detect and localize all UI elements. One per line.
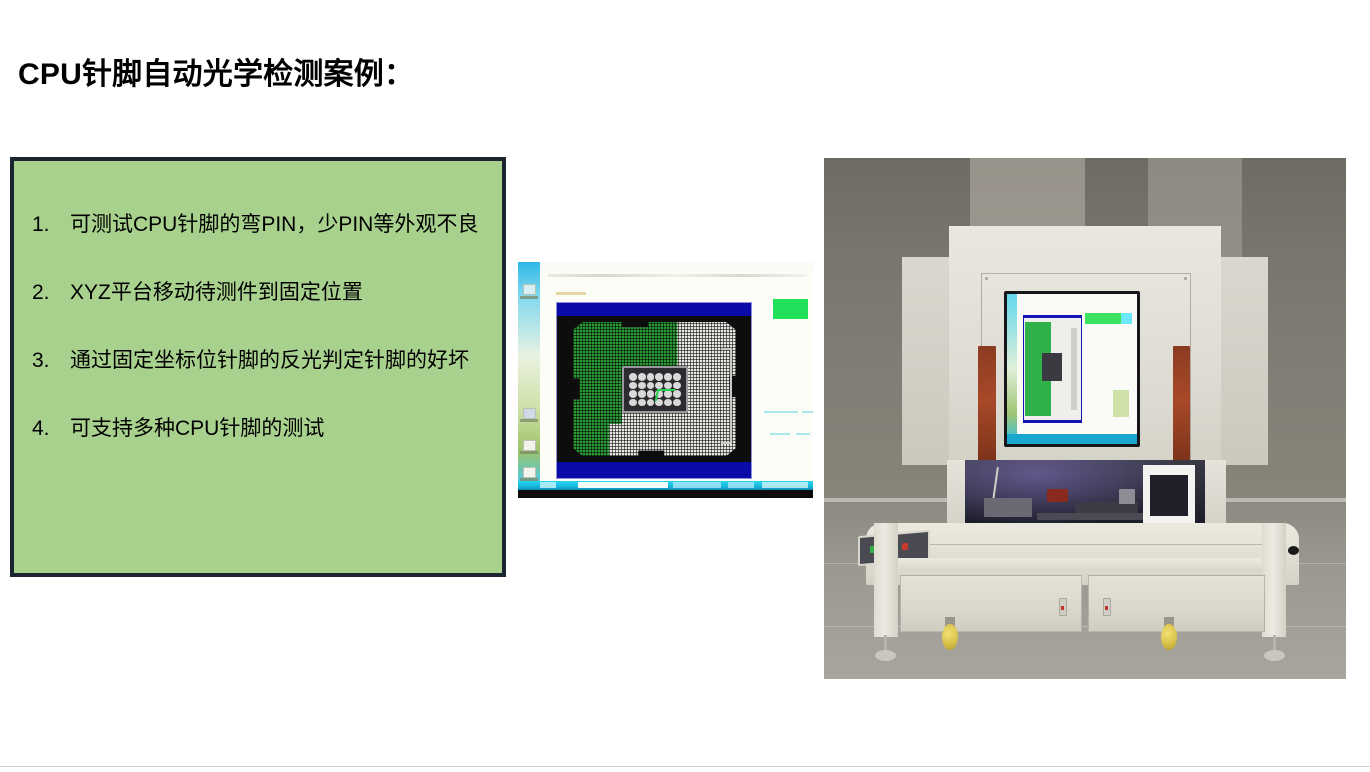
desktop-icon-label bbox=[520, 419, 538, 422]
feature-list-panel: 1. 可测试CPU针脚的弯PIN，少PIN等外观不良 2. XYZ平台移动待测件… bbox=[10, 157, 506, 577]
list-item: 3. 通过固定坐标位针脚的反光判定针脚的好坏 bbox=[24, 327, 492, 395]
taskbar-item bbox=[673, 482, 721, 488]
desktop-icon-label bbox=[520, 451, 538, 454]
socket-image bbox=[557, 316, 751, 462]
pad bbox=[664, 373, 672, 380]
list-item-label: XYZ平台移动待测件到固定位置 bbox=[70, 259, 492, 327]
pad bbox=[638, 373, 646, 380]
panel-readout-line bbox=[764, 411, 798, 413]
chamber-light-panel bbox=[1143, 465, 1196, 528]
pad bbox=[655, 373, 663, 380]
monitor-screen bbox=[1007, 294, 1137, 444]
indicator-lamp bbox=[1173, 346, 1191, 466]
socket-center-pads bbox=[1042, 353, 1062, 382]
image-viewport bbox=[1023, 315, 1083, 423]
cpu-socket bbox=[573, 322, 736, 456]
app-toolbar-strip bbox=[548, 274, 807, 277]
leveling-foot-disc bbox=[875, 650, 896, 661]
leveling-foot bbox=[875, 635, 896, 661]
monitor-bezel bbox=[518, 490, 813, 498]
leveling-foot-stem bbox=[1273, 635, 1276, 651]
xyz-stage-part bbox=[1047, 489, 1069, 502]
control-led bbox=[902, 543, 908, 550]
latch-indicator bbox=[1105, 606, 1108, 610]
status-badge-secondary bbox=[1121, 313, 1131, 324]
pad bbox=[638, 382, 646, 389]
inspection-app-window bbox=[540, 270, 813, 482]
caster-wheel-tire bbox=[942, 624, 958, 650]
list-item-number: 3. bbox=[32, 327, 66, 395]
desktop-edge-strip bbox=[1007, 294, 1017, 444]
status-badge bbox=[1085, 313, 1124, 324]
list-item-number: 2. bbox=[32, 259, 66, 327]
xyz-stage-part bbox=[1119, 489, 1136, 504]
pad bbox=[673, 399, 681, 406]
list-item-label: 可测试CPU针脚的弯PIN，少PIN等外观不良 bbox=[70, 191, 492, 259]
socket-center-pads bbox=[622, 366, 688, 413]
list-item-number: 4. bbox=[32, 395, 66, 463]
pad bbox=[638, 390, 646, 397]
cpu-socket bbox=[1024, 318, 1082, 420]
caster-wheel bbox=[939, 617, 961, 651]
footer-divider bbox=[0, 766, 1370, 767]
leveling-foot bbox=[1264, 635, 1285, 661]
pad bbox=[629, 399, 637, 406]
monitor-closeup-photo bbox=[518, 262, 813, 498]
feature-list: 1. 可测试CPU针脚的弯PIN，少PIN等外观不良 2. XYZ平台移动待测件… bbox=[14, 161, 502, 463]
chamber-light-aperture bbox=[1150, 475, 1188, 516]
pad bbox=[647, 399, 655, 406]
start-button-icon bbox=[540, 482, 556, 488]
panel-readout-line bbox=[796, 433, 810, 435]
pad bbox=[629, 390, 637, 397]
desktop-icon-label bbox=[520, 296, 538, 299]
status-badge bbox=[773, 299, 808, 319]
list-item-label: 通过固定坐标位针脚的反光判定针脚的好坏 bbox=[70, 327, 492, 395]
machine-leg bbox=[1262, 523, 1286, 638]
windows-taskbar bbox=[1007, 434, 1137, 445]
panel-readout-line bbox=[770, 433, 790, 435]
screw-icon bbox=[1184, 277, 1187, 280]
taskbar-item bbox=[762, 482, 808, 488]
latch-indicator bbox=[1061, 606, 1064, 610]
taskbar-item bbox=[728, 482, 754, 488]
windows-taskbar bbox=[518, 481, 813, 490]
pad bbox=[647, 373, 655, 380]
desktop-icon bbox=[523, 467, 536, 478]
pad bbox=[647, 390, 655, 397]
image-viewport bbox=[556, 302, 752, 479]
leveling-foot-stem bbox=[884, 635, 887, 651]
pad bbox=[629, 373, 637, 380]
list-item: 4. 可支持多种CPU针脚的测试 bbox=[24, 395, 492, 463]
pad bbox=[638, 399, 646, 406]
desktop-icon bbox=[523, 440, 536, 451]
panel-thumbnail bbox=[1113, 390, 1129, 417]
list-item-number: 1. bbox=[32, 191, 66, 259]
xyz-stage-rail bbox=[1037, 513, 1143, 520]
list-item: 2. XYZ平台移动待测件到固定位置 bbox=[24, 259, 492, 327]
taskbar-item bbox=[578, 482, 668, 488]
housing-seam bbox=[887, 544, 1263, 545]
app-hint-text bbox=[556, 292, 586, 295]
door-latch[interactable] bbox=[1103, 598, 1111, 616]
list-item-label: 可支持多种CPU针脚的测试 bbox=[70, 395, 492, 463]
xyz-stage-part bbox=[984, 498, 1032, 517]
machine-monitor bbox=[1004, 291, 1140, 447]
page-title: CPU针脚自动光学检测案例： bbox=[18, 57, 414, 93]
socket-retention-clip bbox=[721, 348, 732, 444]
cabinet-door[interactable] bbox=[900, 575, 1083, 632]
cabinet-top-rail bbox=[892, 558, 1278, 568]
leveling-foot-disc bbox=[1264, 650, 1285, 661]
machine-leg bbox=[874, 523, 898, 638]
door-latch[interactable] bbox=[1059, 598, 1067, 616]
pad bbox=[647, 382, 655, 389]
aoi-machine-photo bbox=[824, 158, 1346, 679]
pad bbox=[673, 373, 681, 380]
caster-wheel-tire bbox=[1161, 624, 1177, 650]
inspection-cursor-marker bbox=[655, 389, 676, 401]
desktop-icon bbox=[523, 408, 536, 419]
pad bbox=[629, 382, 637, 389]
screw-icon bbox=[985, 277, 988, 280]
socket-retention-clip bbox=[1071, 328, 1077, 410]
list-item: 1. 可测试CPU针脚的弯PIN，少PIN等外观不良 bbox=[24, 191, 492, 259]
panel-readout-line bbox=[802, 411, 813, 413]
windows-desktop-strip bbox=[518, 262, 540, 498]
caster-wheel bbox=[1158, 617, 1180, 651]
desktop-icon bbox=[523, 284, 536, 295]
indicator-lamp bbox=[978, 346, 996, 466]
